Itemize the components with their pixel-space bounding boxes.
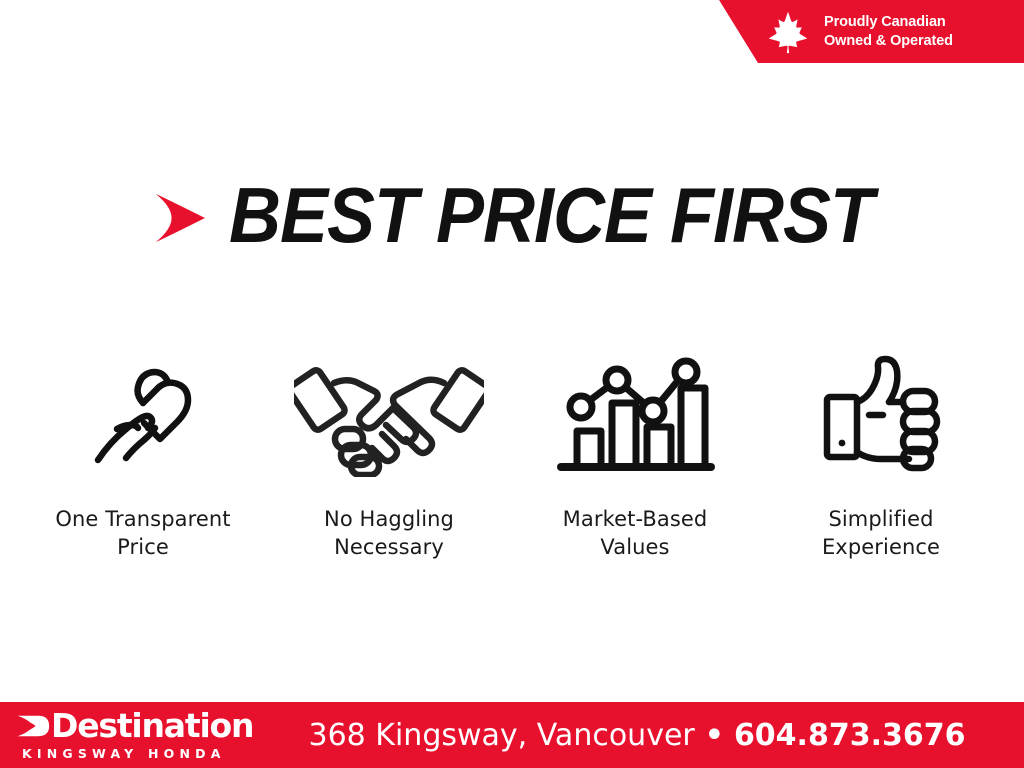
footer-address: 368 Kingsway, Vancouver xyxy=(309,718,695,753)
feature-label: One Transparent Price xyxy=(55,506,230,561)
thumbs-up-icon xyxy=(817,353,945,481)
feature-label-line1: No Haggling xyxy=(324,506,454,534)
footer-separator: • xyxy=(705,718,724,753)
feature-icon-wrap xyxy=(78,352,208,482)
banner-line-2: Owned & Operated xyxy=(824,32,953,51)
maple-leaf-icon xyxy=(764,9,812,55)
feature-icon-wrap xyxy=(817,352,945,482)
bar-chart-trend-icon xyxy=(555,355,715,480)
features-row: One Transparent Price No Haggl xyxy=(0,352,1024,561)
logo-wordmark: Destination xyxy=(51,709,253,742)
banner-line-1: Proudly Canadian xyxy=(824,13,953,32)
feature-simplified-experience: Simplified Experience xyxy=(758,352,1004,561)
logo-subtitle: KINGSWAY HONDA xyxy=(22,746,270,761)
feature-label-line2: Necessary xyxy=(324,534,454,562)
footer-contact: 368 Kingsway, Vancouver • 604.873.3676 xyxy=(270,718,1024,753)
logo-top-row: Destination xyxy=(16,709,270,742)
feature-one-transparent-price: One Transparent Price xyxy=(20,352,266,561)
feature-market-based-values: Market-Based Values xyxy=(512,352,758,561)
feature-label-line1: Market-Based xyxy=(563,506,708,534)
feature-label: Simplified Experience xyxy=(822,506,940,561)
hand-holding-heart-icon xyxy=(78,356,208,478)
handshake-icon xyxy=(294,357,484,477)
page-title: BEST PRICE FIRST xyxy=(229,172,873,261)
feature-label-line1: Simplified xyxy=(822,506,940,534)
feature-icon-wrap xyxy=(294,352,484,482)
feature-label-line2: Experience xyxy=(822,534,940,562)
feature-label: No Haggling Necessary xyxy=(324,506,454,561)
feature-icon-wrap xyxy=(555,352,715,482)
footer-phone[interactable]: 604.873.3676 xyxy=(734,718,966,753)
footer-bar: Destination KINGSWAY HONDA 368 Kingsway,… xyxy=(0,702,1024,768)
red-arrow-icon xyxy=(151,192,207,244)
feature-label-line2: Values xyxy=(563,534,708,562)
feature-label-line2: Price xyxy=(55,534,230,562)
destination-swoosh-icon xyxy=(16,713,50,739)
dealership-logo[interactable]: Destination KINGSWAY HONDA xyxy=(0,709,270,761)
headline-row: BEST PRICE FIRST xyxy=(0,175,1024,257)
banner-text-block: Proudly Canadian Owned & Operated xyxy=(824,13,953,50)
feature-label: Market-Based Values xyxy=(563,506,708,561)
feature-no-haggling-necessary: No Haggling Necessary xyxy=(266,352,512,561)
feature-label-line1: One Transparent xyxy=(55,506,230,534)
proudly-canadian-banner: Proudly Canadian Owned & Operated xyxy=(702,0,1024,63)
